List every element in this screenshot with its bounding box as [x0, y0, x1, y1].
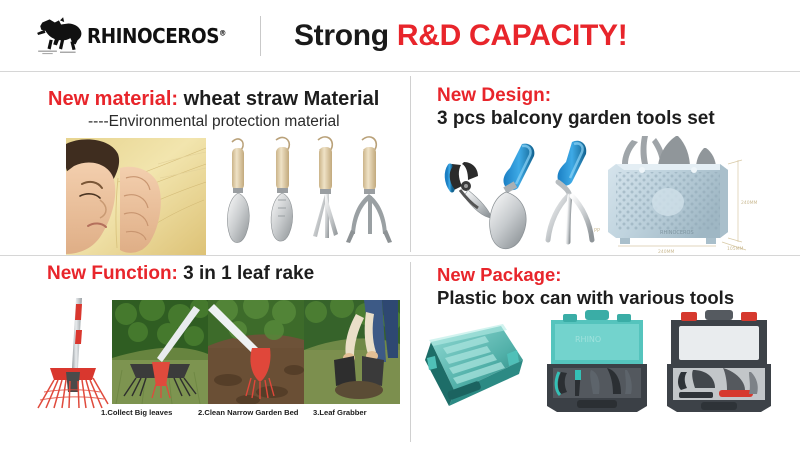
panel-new-material: New material: wheat straw Material ----E… — [0, 72, 410, 255]
brand-name: RHINOCEROS® — [87, 24, 226, 48]
new-function-value: 3 in 1 leaf rake — [183, 263, 314, 284]
svg-text:105MM: 105MM — [727, 246, 743, 252]
function-photo-1 — [112, 300, 208, 404]
package-case-closed — [419, 320, 531, 416]
rhinoceros-icon — [34, 17, 86, 55]
wheat-field-photo — [66, 138, 206, 255]
function-caption-1: 1.Collect Big leaves — [101, 408, 172, 417]
svg-text:RHINOCEROS: RHINOCEROS — [660, 230, 694, 236]
header-divider — [260, 16, 261, 56]
balcony-tool-set-figure: RHINOCEROS 240MM 240MM 105MM PP — [430, 134, 790, 254]
leaf-rake-product — [32, 296, 112, 414]
function-caption-3: 3.Leaf Grabber — [313, 408, 367, 417]
panel-new-function: New Function: 3 in 1 leaf rake — [0, 256, 410, 450]
svg-text:240MM: 240MM — [658, 249, 674, 254]
svg-text:RHINO: RHINO — [575, 335, 601, 344]
slide-root: RHINOCEROS® Strong R&D CAPACITY! New mat… — [0, 0, 800, 450]
brand-logo: RHINOCEROS® — [34, 17, 238, 55]
package-case-open-grey — [663, 310, 775, 416]
new-material-label: New material: — [48, 88, 178, 110]
svg-text:240MM: 240MM — [741, 200, 757, 206]
title-strong: Strong — [294, 19, 389, 52]
new-material-heading: New material: wheat straw Material — [48, 88, 379, 111]
panel-new-design: New Design: 3 pcs balcony garden tools s… — [411, 72, 800, 255]
function-photo-3 — [304, 300, 400, 404]
new-material-subtitle: ----Environmental protection material — [88, 113, 340, 131]
page-title: Strong R&D CAPACITY! — [294, 19, 627, 53]
new-function-heading: New Function: 3 in 1 leaf rake — [47, 263, 314, 285]
new-design-value: 3 pcs balcony garden tools set — [437, 108, 715, 130]
new-package-value: Plastic box can with various tools — [437, 287, 734, 308]
slide-header: RHINOCEROS® Strong R&D CAPACITY! — [0, 0, 800, 71]
title-rd-capacity: R&D CAPACITY! — [397, 19, 628, 52]
new-package-label: New Package: — [437, 264, 561, 285]
new-function-label: New Function: — [47, 263, 178, 284]
function-photo-2 — [208, 300, 304, 404]
wheat-straw-tools — [210, 130, 400, 255]
package-case-open-teal: RHINO — [541, 310, 653, 416]
new-material-value: wheat straw Material — [184, 88, 380, 110]
new-design-label: New Design: — [437, 85, 551, 107]
material-tag: PP — [594, 228, 600, 234]
function-caption-2: 2.Clean Narrow Garden Bed — [198, 408, 298, 417]
panel-new-package: New Package: Plastic box can with variou… — [411, 256, 800, 450]
